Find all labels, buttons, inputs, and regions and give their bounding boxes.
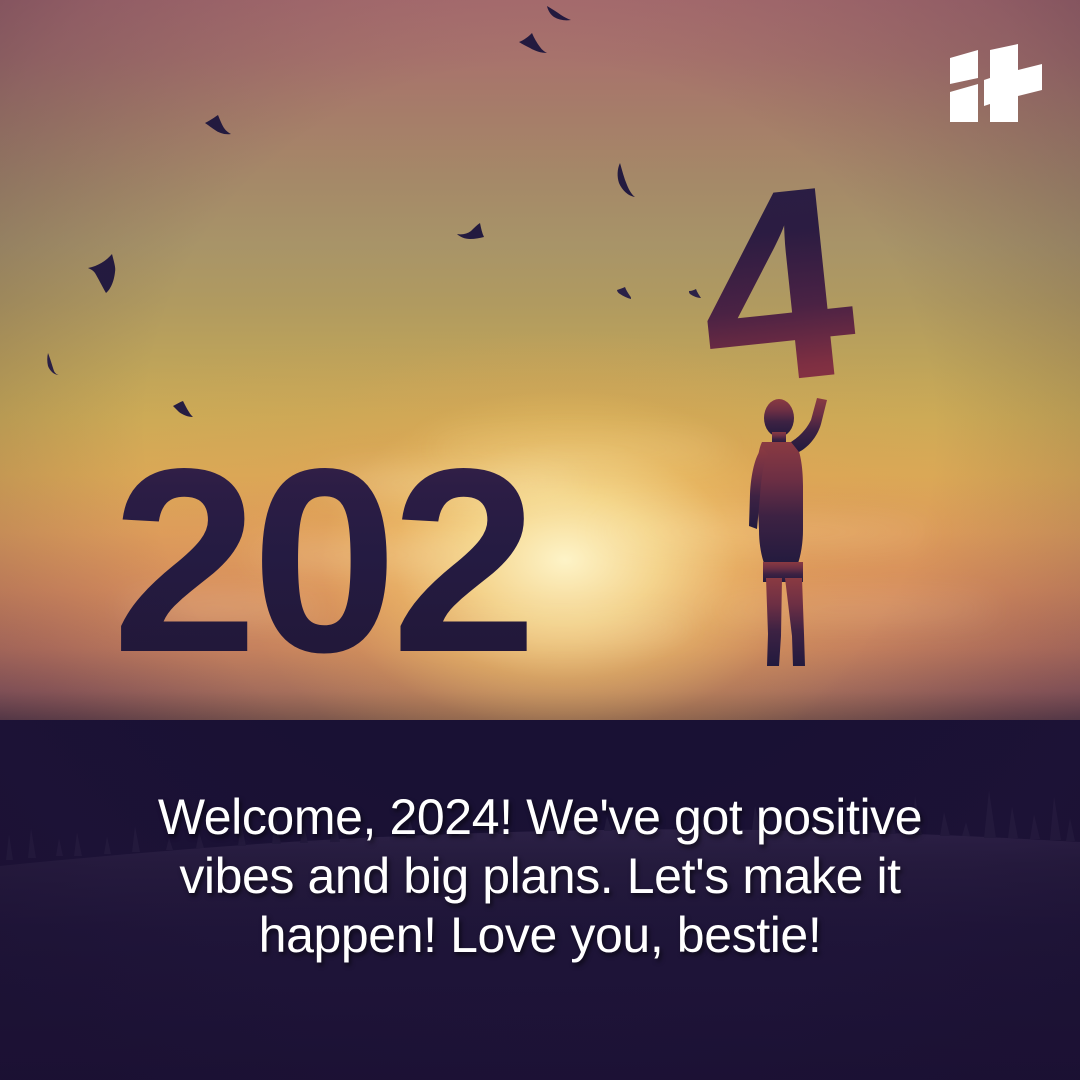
year-suffix-4: 4 xyxy=(686,143,865,429)
bird-silhouette xyxy=(610,162,636,198)
greeting-card: 202 4 xyxy=(0,0,1080,1080)
bird-silhouette xyxy=(44,352,60,376)
indiatimes-it-logo[interactable] xyxy=(944,44,1044,128)
bird-silhouette xyxy=(518,30,548,54)
caption-text: Welcome, 2024! We've got positive vibes … xyxy=(100,788,980,965)
bird-silhouette xyxy=(688,288,702,300)
bird-silhouette xyxy=(456,222,486,244)
bird-silhouette xyxy=(86,252,134,294)
bird-silhouette xyxy=(204,114,232,136)
caption-panel: Welcome, 2024! We've got positive vibes … xyxy=(0,780,1080,1080)
bird-silhouette xyxy=(172,400,194,418)
bird-silhouette xyxy=(616,286,632,300)
bird-silhouette xyxy=(546,4,572,22)
